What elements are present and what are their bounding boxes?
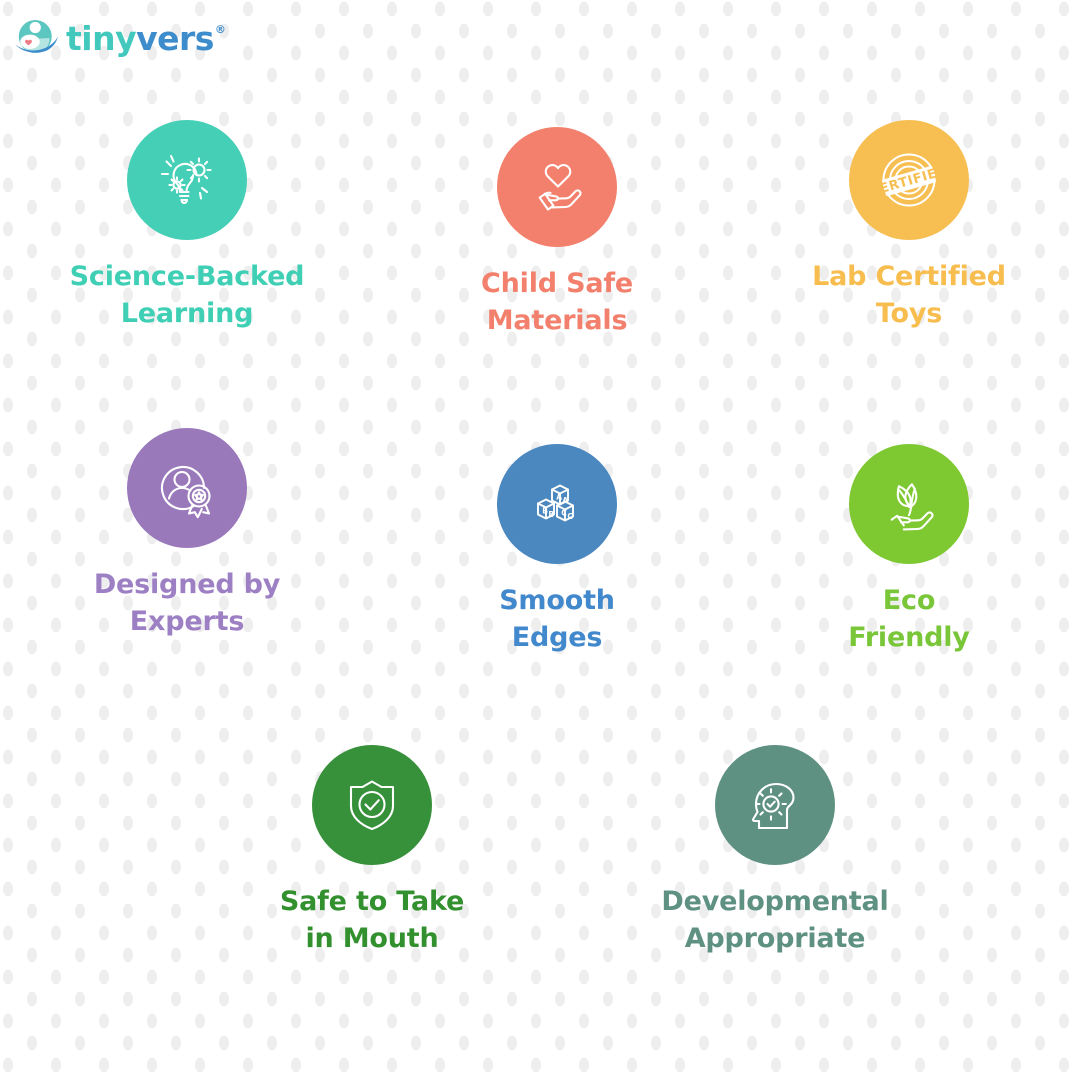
feature-icon-badge: CERTIFIED: [849, 120, 969, 240]
svg-text:C: C: [561, 509, 567, 518]
svg-text:B: B: [542, 507, 548, 516]
feature-designed-by-experts[interactable]: Designed by Experts: [37, 428, 337, 641]
certified-stamp-icon: CERTIFIED: [877, 148, 941, 212]
head-gear-check-icon: [743, 773, 807, 837]
feature-safe-to-take-in-mouth[interactable]: Safe to Take in Mouth: [222, 745, 522, 958]
feature-label: Designed by Experts: [37, 566, 337, 641]
feature-label: Smooth Edges: [407, 582, 707, 657]
feature-label: Child Safe Materials: [407, 265, 707, 340]
feature-label: Safe to Take in Mouth: [222, 883, 522, 958]
brand-wordmark: tiny vers ®: [66, 22, 226, 55]
shield-check-icon: [340, 773, 404, 837]
tinyvers-baby-globe-logo-icon: [12, 14, 60, 62]
feature-label: Science-Backed Learning: [37, 258, 337, 333]
feature-icon-badge: [715, 745, 835, 865]
feature-developmental-appropriate[interactable]: Developmental Appropriate: [625, 745, 925, 958]
brand-name-part1: tiny: [66, 22, 136, 55]
feature-label: Lab Certified Toys: [759, 258, 1059, 333]
feature-child-safe-materials[interactable]: Child Safe Materials: [407, 127, 707, 340]
feature-lab-certified-toys[interactable]: CERTIFIED Lab Certified Toys: [759, 120, 1059, 333]
lightbulb-gears-icon: [155, 148, 219, 212]
feature-icon-badge: [312, 745, 432, 865]
feature-icon-badge: [849, 444, 969, 564]
feature-label: Developmental Appropriate: [625, 883, 925, 958]
svg-text:C: C: [567, 512, 573, 521]
feature-smooth-edges[interactable]: A A B B C C Smooth Edges: [407, 444, 707, 657]
brand-name-part2: vers: [136, 22, 214, 55]
feature-science-backed-learning[interactable]: Science-Backed Learning: [37, 120, 337, 333]
feature-icon-badge: A A B B C C: [497, 444, 617, 564]
feature-icon-badge: [127, 428, 247, 548]
infographic-page: tiny vers ® Sc: [0, 0, 1080, 1080]
abc-blocks-icon: A A B B C C: [525, 472, 589, 536]
registered-trademark-icon: ®: [215, 24, 226, 35]
brand-logo[interactable]: tiny vers ®: [12, 14, 226, 62]
hand-leaf-icon: [877, 472, 941, 536]
feature-icon-badge: [127, 120, 247, 240]
svg-text:B: B: [548, 510, 554, 519]
hand-holding-heart-icon: [525, 155, 589, 219]
feature-icon-badge: [497, 127, 617, 247]
person-award-badge-icon: [155, 456, 219, 520]
svg-text:A: A: [556, 493, 562, 502]
feature-eco-friendly[interactable]: Eco Friendly: [759, 444, 1059, 657]
feature-label: Eco Friendly: [759, 582, 1059, 657]
